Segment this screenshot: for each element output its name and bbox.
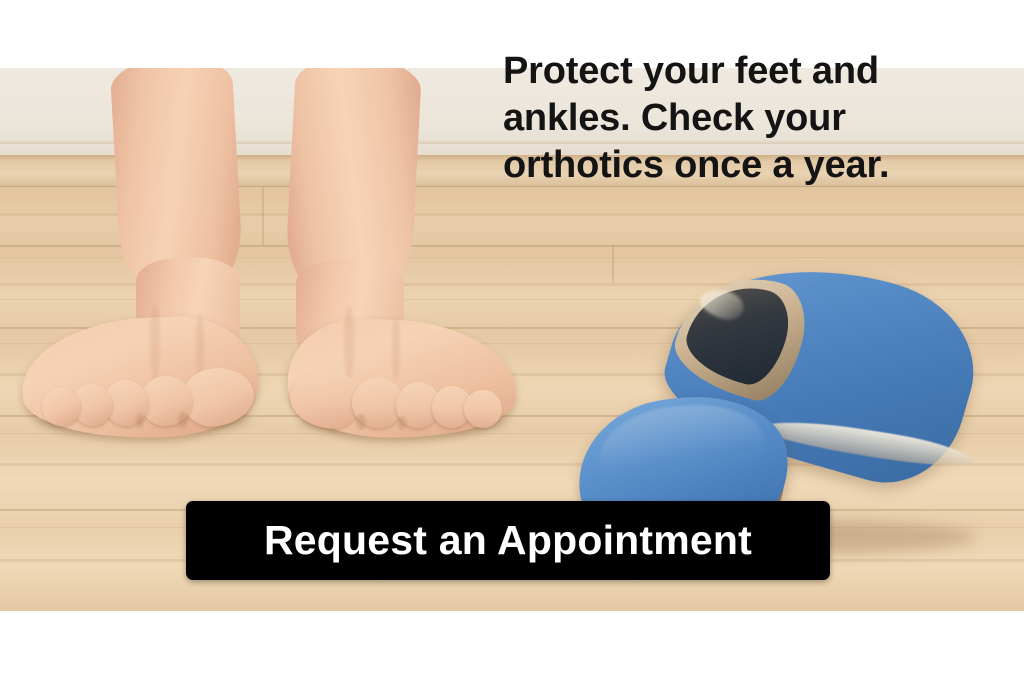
headline-line-1: Protect your feet and	[503, 48, 973, 95]
request-appointment-button[interactable]: Request an Appointment	[186, 501, 830, 580]
headline-line-3: orthotics once a year.	[503, 142, 973, 189]
headline: Protect your feet and ankles. Check your…	[503, 48, 973, 189]
headline-line-2: ankles. Check your	[503, 95, 973, 142]
promo-banner: Protect your feet and ankles. Check your…	[0, 0, 1024, 681]
